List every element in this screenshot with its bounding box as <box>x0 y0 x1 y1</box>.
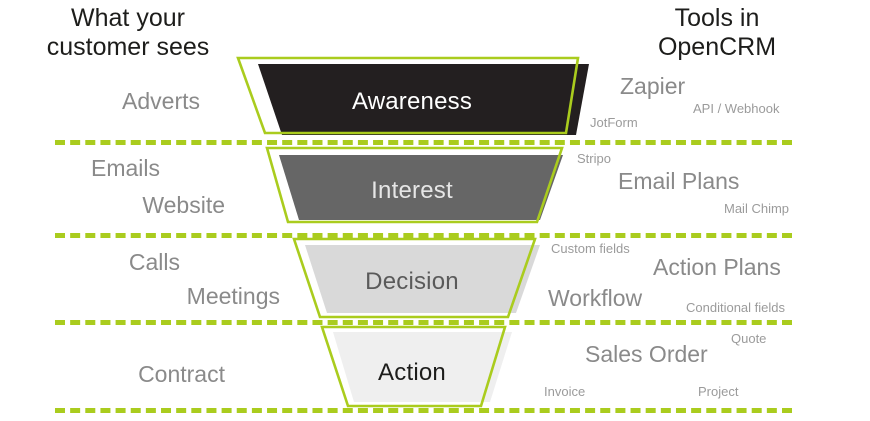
customer-label-calls: Calls <box>80 249 180 276</box>
tool-label-mail-chimp: Mail Chimp <box>724 201 789 216</box>
stage-label-decision: Decision <box>312 268 512 296</box>
tool-label-zapier: Zapier <box>620 73 685 100</box>
tool-label-action-plans: Action Plans <box>653 254 781 281</box>
tool-label-project: Project <box>698 384 738 399</box>
funnel-diagram: What your customer sees Tools in OpenCRM… <box>0 0 870 421</box>
tool-label-conditional-fields: Conditional fields <box>686 300 785 315</box>
tool-label-workflow: Workflow <box>548 285 642 312</box>
stage-label-action: Action <box>312 359 512 387</box>
customer-label-adverts: Adverts <box>80 88 200 115</box>
tool-label-email-plans: Email Plans <box>618 168 739 195</box>
tool-label-quote: Quote <box>731 331 766 346</box>
stage-label-interest: Interest <box>312 177 512 205</box>
tool-label-custom-fields: Custom fields <box>551 241 630 256</box>
tool-label-api-webhook: API / Webhook <box>693 101 779 116</box>
divider-bottom <box>55 408 792 413</box>
divider-interest-decision <box>55 233 792 238</box>
divider-decision-action <box>55 320 792 325</box>
tool-label-sales-order: Sales Order <box>585 341 708 368</box>
heading-customer-sees: What your customer sees <box>22 4 234 62</box>
customer-label-meetings: Meetings <box>140 283 280 310</box>
customer-label-contract: Contract <box>85 361 225 388</box>
stage-label-awareness: Awareness <box>312 88 512 116</box>
divider-awareness-interest <box>55 140 792 145</box>
tool-label-stripo: Stripo <box>577 151 611 166</box>
customer-label-website: Website <box>90 192 225 219</box>
tool-label-invoice: Invoice <box>544 384 585 399</box>
heading-tools-in-opencrm: Tools in OpenCRM <box>617 4 817 62</box>
customer-label-emails: Emails <box>40 155 160 182</box>
tool-label-jotform: JotForm <box>590 115 638 130</box>
